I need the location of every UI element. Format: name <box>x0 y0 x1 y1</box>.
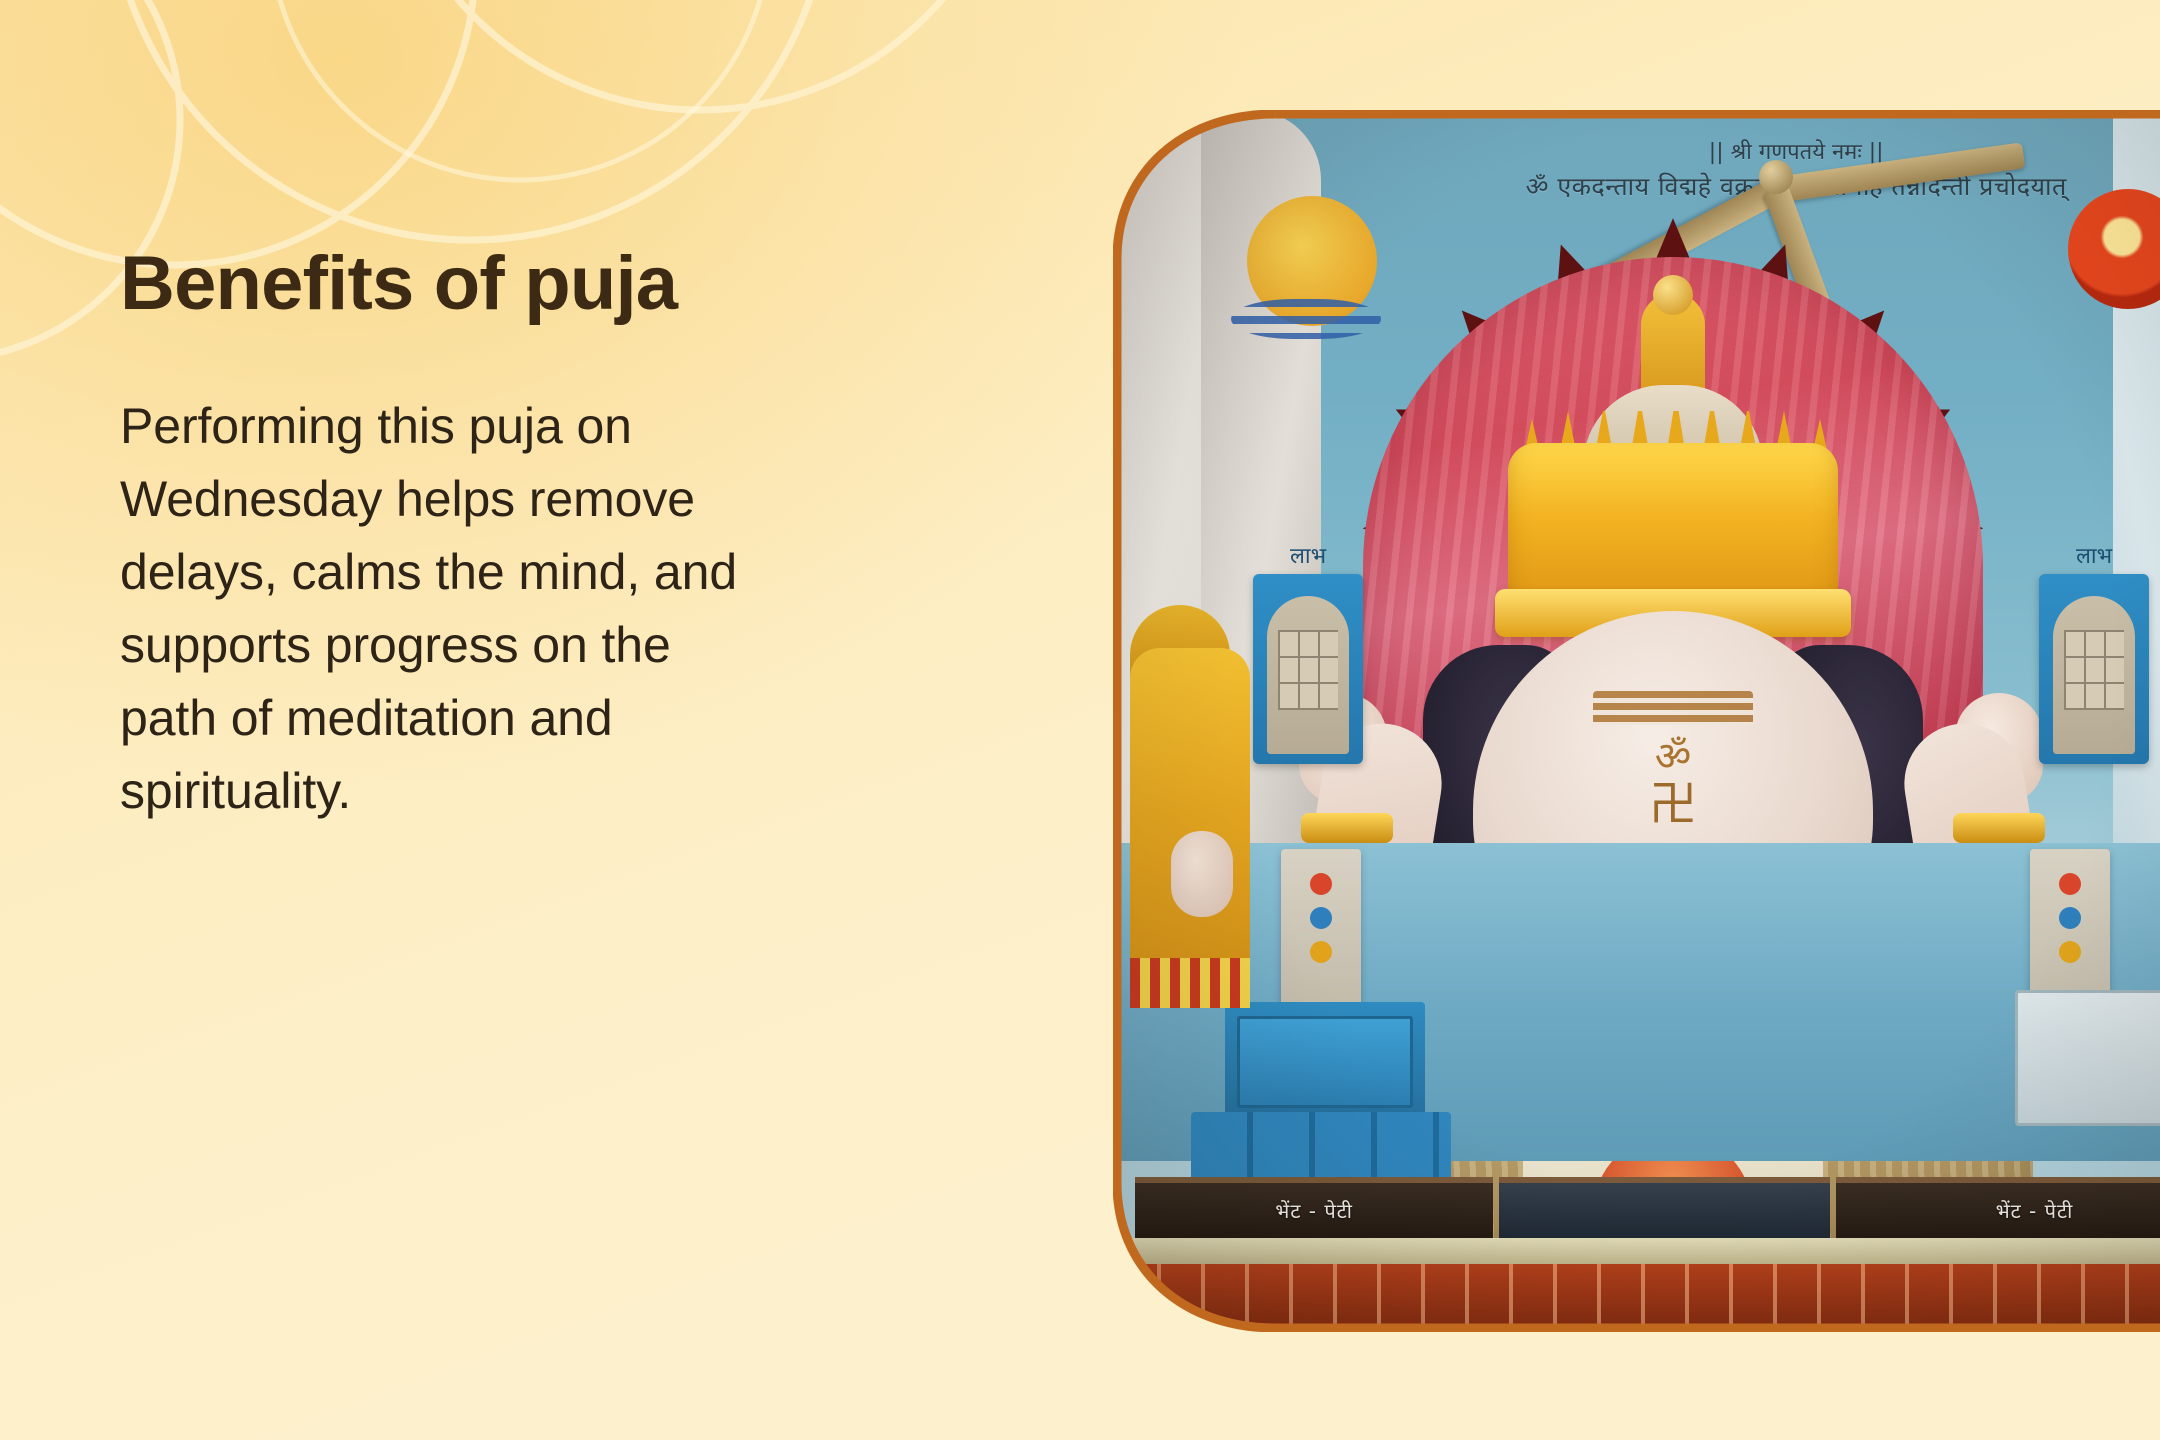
devotee-sari <box>1130 648 1250 1008</box>
bangle-upper-left <box>1301 813 1393 843</box>
donation-box-center <box>1499 1177 1830 1239</box>
white-cabinet <box>2015 990 2160 1126</box>
photo-frame: || श्री गणपतये नमः || ॐ एकदन्ताय विद्महे… <box>1113 110 2160 1332</box>
photo-clip: || श्री गणपतये नमः || ॐ एकदन्ताय विद्महे… <box>1113 110 2160 1332</box>
blue-cabinet <box>1225 1002 1425 1122</box>
temple-photo: || श्री गणपतये नमः || ॐ एकदन्ताय विद्महे… <box>1113 110 2160 1332</box>
niche-label-left: लाभ <box>1290 540 1326 570</box>
bangle-upper-right <box>1953 813 2045 843</box>
body-paragraph: Performing this puja on Wednesday helps … <box>120 323 740 828</box>
devotee-hand <box>1171 831 1233 917</box>
donation-box-left: भेंट - पेटी <box>1135 1177 1492 1239</box>
donation-box-label-right: भेंट - पेटी <box>1996 1197 2074 1224</box>
tilak-mark <box>1593 691 1753 725</box>
wall-niche-right: लाभ <box>2039 574 2149 764</box>
text-column: Benefits of puja Performing this puja on… <box>120 245 960 828</box>
page-title: Benefits of puja <box>120 245 960 323</box>
niche-label-right: लाभ <box>2076 540 2112 570</box>
swastika-mark-icon: 卍 <box>1646 779 1700 833</box>
om-mark-icon: ॐ <box>1638 737 1708 779</box>
donation-box-label-left: भेंट - पेटी <box>1275 1197 1353 1224</box>
wall-niche-left: लाभ <box>1253 574 1363 764</box>
donation-box-right: भेंट - पेटी <box>1836 1177 2160 1239</box>
shelf-ledge <box>1113 1238 2160 1264</box>
poster-canvas: Benefits of puja Performing this puja on… <box>0 0 2160 1440</box>
pedestal-pillar-left <box>1281 849 1361 1009</box>
pedestal-pillar-right <box>2030 849 2110 1009</box>
red-fringe-drape <box>1113 1264 2160 1332</box>
donation-box-row: भेंट - पेटी भेंट - पेटी <box>1135 1177 2160 1239</box>
